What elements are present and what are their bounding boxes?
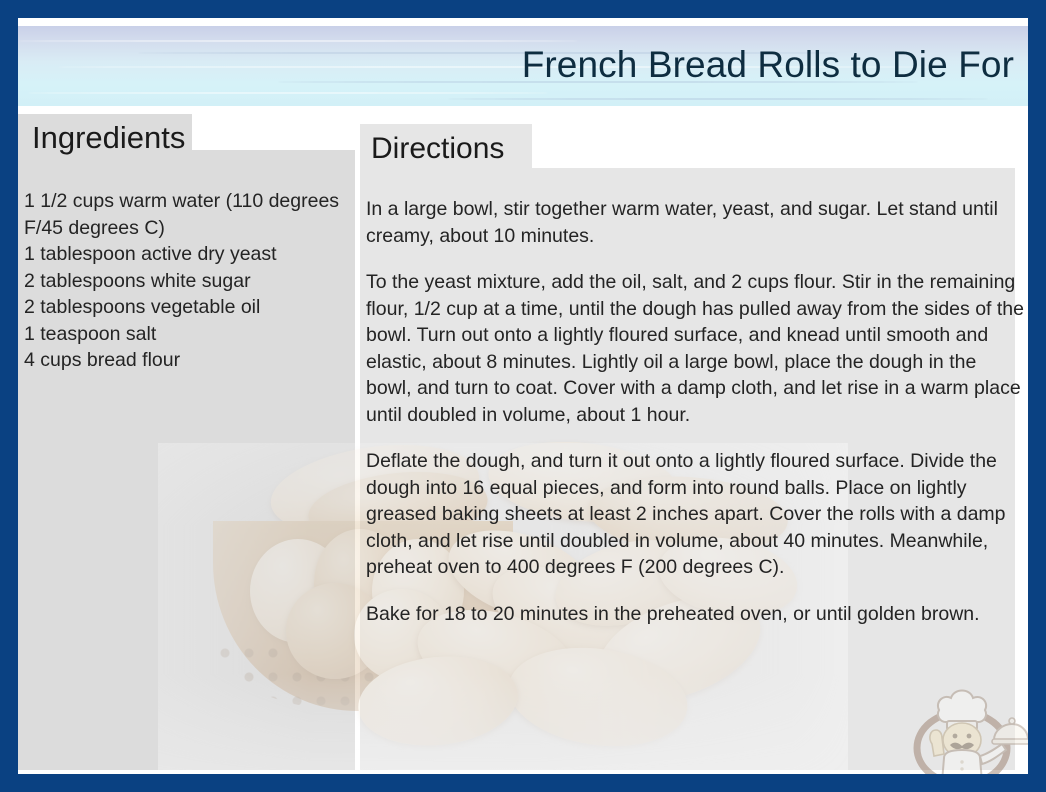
chef-eye-right — [967, 734, 972, 739]
directions-heading: Directions — [371, 128, 504, 170]
banner-wisp — [28, 92, 548, 94]
chef-hand-raised — [930, 730, 944, 756]
list-item: 4 cups bread flour — [24, 347, 344, 374]
recipe-slide: French Bread Rolls to Die For Ingredient… — [0, 0, 1046, 792]
cloche-tray — [992, 739, 1028, 744]
jacket-button — [960, 760, 963, 763]
list-item: 1 tablespoon active dry yeast — [24, 241, 344, 268]
banner-wisp — [18, 40, 578, 42]
cloche-knob — [1009, 718, 1015, 724]
list-item: 1 1/2 cups warm water (110 degrees F/45 … — [24, 188, 344, 241]
direction-step: Deflate the dough, and turn it out onto … — [366, 448, 1026, 581]
jacket-button — [960, 774, 963, 777]
chef-jacket — [942, 750, 982, 782]
direction-step: In a large bowl, stir together warm wate… — [366, 196, 1026, 249]
direction-step: Bake for 18 to 20 minutes in the preheat… — [366, 601, 1026, 628]
list-item: 1 teaspoon salt — [24, 321, 344, 348]
ingredients-list: 1 1/2 cups warm water (110 degrees F/45 … — [24, 188, 344, 374]
ingredients-heading: Ingredients — [32, 116, 185, 160]
list-item: 2 tablespoons white sugar — [24, 268, 344, 295]
jacket-button — [960, 767, 963, 770]
chef-hat-icon — [938, 691, 986, 723]
banner-wisp — [448, 98, 988, 100]
direction-step: To the yeast mixture, add the oil, salt,… — [366, 269, 1026, 428]
chef-mascot-logo — [898, 682, 1028, 786]
chef-eye-left — [953, 734, 958, 739]
list-item: 2 tablespoons vegetable oil — [24, 294, 344, 321]
page-title: French Bread Rolls to Die For — [522, 46, 1014, 85]
directions-text: In a large bowl, stir together warm wate… — [366, 196, 1026, 647]
title-banner: French Bread Rolls to Die For — [18, 26, 1028, 106]
slide-content-area: French Bread Rolls to Die For Ingredient… — [18, 18, 1028, 774]
